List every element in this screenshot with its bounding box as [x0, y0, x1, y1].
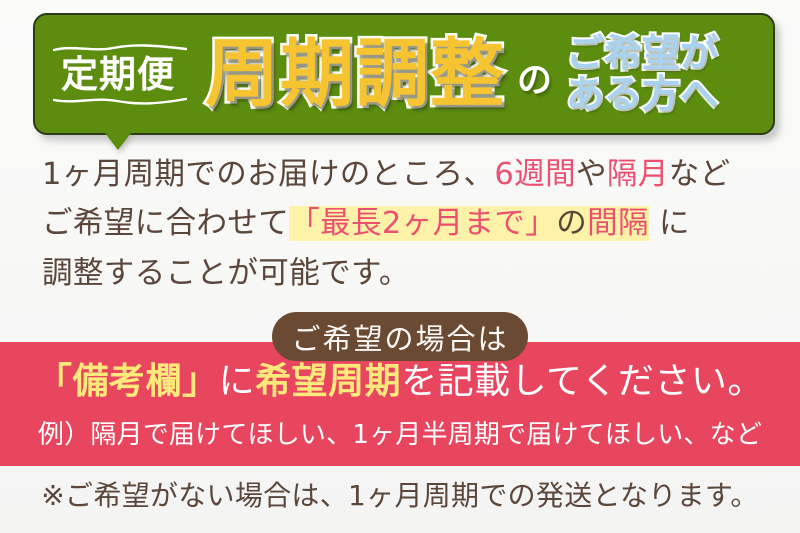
pink-headline-tail: を記載してください。: [401, 361, 764, 402]
body-line-1-tail: など: [669, 157, 731, 192]
body-line-2: ご希望に合わせて「最長2ヶ月まで」の間隔 に: [42, 199, 772, 248]
body-line-2-tail: に: [649, 206, 690, 241]
header-title: 周期調整: [205, 37, 505, 111]
body-paragraph: 1ヶ月周期でのお届けのところ、6週間や隔月など ご希望に合わせて「最長2ヶ月まで…: [42, 150, 772, 298]
subscription-badge-label: 定期便: [61, 53, 175, 96]
pink-headline-particle: に: [219, 361, 256, 402]
header-green-box: 定期便 周期調整 の ご希望が ある方へ: [33, 13, 775, 135]
pink-headline-remarks-field: 「備考欄」: [36, 361, 219, 402]
body-line-1: 1ヶ月周期でのお届けのところ、6週間や隔月など: [42, 150, 772, 199]
body-emphasis-six-weeks: 6週間: [494, 157, 576, 192]
wavy-rule-top-icon: [53, 44, 187, 53]
pink-headline-desired-cycle: 希望周期: [255, 361, 401, 402]
body-line-1-conjunction: や: [576, 157, 607, 192]
body-highlight-quoted: 「最長2ヶ月まで」: [289, 206, 556, 241]
footnote-text: ※ご希望がない場合は、1ヶ月周期での発送となります。: [0, 482, 800, 510]
body-highlight-interval: 間隔: [587, 206, 649, 241]
body-line-1-lead: 1ヶ月周期でのお届けのところ、: [42, 157, 494, 192]
header-subtitle-line-1: ご希望が: [566, 34, 718, 73]
body-highlight-max-two-months: 「最長2ヶ月まで」の間隔: [289, 206, 649, 241]
pink-headline: 「備考欄」に希望周期を記載してください。: [0, 364, 800, 400]
header-subtitle-line-2: ある方へ: [566, 75, 718, 114]
body-highlight-particle: の: [556, 206, 587, 241]
pink-example-text: 例）隔月で届けてほしい、1ヶ月半周期で届けてほしい、など: [0, 422, 800, 448]
body-line-3: 調整することが可能です。: [42, 249, 772, 298]
request-case-pill: ご希望の場合は: [272, 312, 528, 361]
wavy-rule-bottom-icon: [53, 96, 187, 105]
header-subtitle: ご希望が ある方へ: [566, 34, 718, 114]
speech-bubble-tail-icon: [105, 133, 131, 150]
body-emphasis-every-other-month: 隔月: [607, 157, 669, 192]
header-banner: 定期便 周期調整 の ご希望が ある方へ: [33, 13, 775, 135]
body-line-2-lead: ご希望に合わせて: [42, 206, 289, 241]
subscription-cycle-adjustment-banner: 定期便 周期調整 の ご希望が ある方へ 1ヶ月周期でのお届けのところ、6週間や…: [0, 0, 800, 533]
subscription-badge: 定期便: [57, 42, 179, 107]
header-particle: の: [517, 64, 552, 99]
